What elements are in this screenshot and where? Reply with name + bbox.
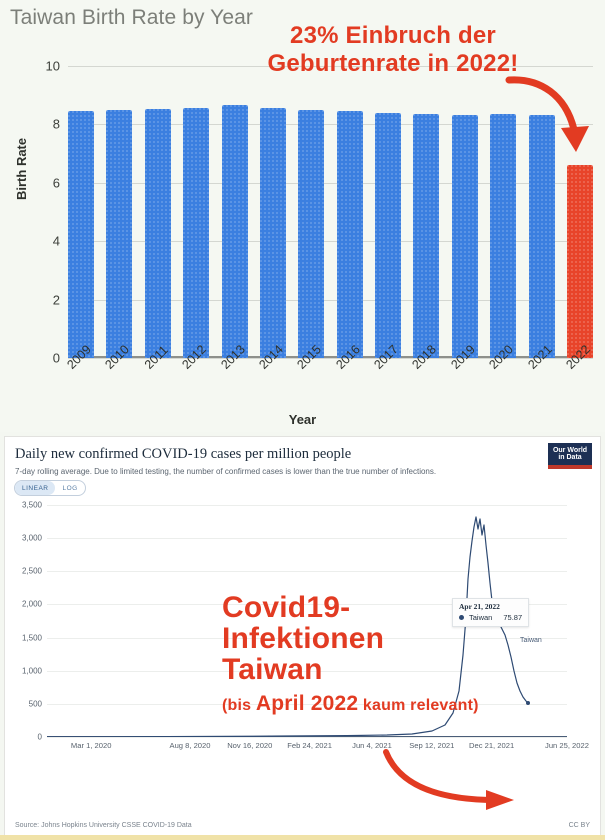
bar-chart-x-tick: 2011 (145, 362, 171, 404)
covid-series-label: Taiwan (520, 637, 542, 644)
covid-y-tick-label: 3,000 (22, 534, 42, 543)
bar-chart-y-axis-label: Birth Rate (14, 138, 29, 200)
bar[interactable] (298, 110, 324, 358)
bar[interactable] (567, 165, 593, 358)
bar-chart-x-tick: 2017 (375, 362, 401, 404)
scale-log-button[interactable]: LOG (55, 481, 84, 495)
covid-x-tick-label: Nov 16, 2020 (227, 741, 272, 750)
bar-chart-x-tick: 2019 (452, 362, 478, 404)
covid-annotation-line-3: Taiwan (222, 655, 479, 686)
covid-y-tick-label: 0 (38, 733, 42, 742)
bar[interactable] (337, 111, 363, 358)
bar-chart-x-tick: 2012 (183, 362, 209, 404)
covid-x-tick-label: Feb 24, 2021 (287, 741, 332, 750)
scale-linear-button[interactable]: LINEAR (15, 481, 55, 495)
covid-annotation: Covid19- Infektionen Taiwan (bis April 2… (222, 593, 479, 717)
covid-x-tick-label: Mar 1, 2020 (71, 741, 112, 750)
bar-chart-y-tick: 0 (53, 351, 60, 366)
covid-x-tick-label: Aug 8, 2020 (170, 741, 211, 750)
bar-chart-plot-area: 0246810 (68, 66, 593, 358)
bottom-accent-bar (0, 835, 605, 840)
covid-chart-subtitle: 7-day rolling average. Due to limited te… (15, 467, 535, 477)
bar-chart-x-tick: 2022 (567, 362, 593, 404)
covid-x-tick-label: Sep 12, 2021 (409, 741, 454, 750)
bar-chart-x-tick: 2009 (68, 362, 94, 404)
our-world-in-data-logo[interactable]: Our World in Data (548, 443, 592, 469)
gridline (47, 737, 567, 738)
bar-chart-y-tick: 6 (53, 175, 60, 190)
bar-chart-x-tick-labels: 2009201020112012201320142015201620172018… (68, 362, 593, 404)
bar-chart-y-tick: 4 (53, 234, 60, 249)
covid-y-tick-label: 1,000 (22, 666, 42, 675)
scale-toggle[interactable]: LINEAR LOG (14, 480, 86, 496)
bar[interactable] (375, 113, 401, 358)
bar-chart-title: Taiwan Birth Rate by Year (10, 6, 253, 30)
covid-annotation-line-4-prefix: (bis (222, 697, 256, 714)
bar-chart-y-tick: 10 (46, 59, 60, 74)
bar[interactable] (106, 110, 132, 358)
screenshot-page: Taiwan Birth Rate by Year Birth Rate 024… (0, 0, 605, 840)
covid-y-tick-label: 2,500 (22, 567, 42, 576)
logo-line-1: Our World (548, 447, 592, 454)
covid-x-tick-labels: Mar 1, 2020Aug 8, 2020Nov 16, 2020Feb 24… (47, 741, 567, 755)
birth-rate-annotation: 23% Einbruch der Geburtenrate in 2022! (228, 22, 558, 77)
covid-y-tick-label: 1,500 (22, 633, 42, 642)
bar-chart-x-tick: 2016 (337, 362, 363, 404)
covid-annotation-line-2: Infektionen (222, 624, 479, 655)
covid-chart-title: Daily new confirmed COVID-19 cases per m… (15, 446, 351, 463)
bar-chart-y-tick: 8 (53, 117, 60, 132)
covid-annotation-line-4: (bis April 2022 kaum relevant) (222, 686, 479, 717)
bar-chart-x-tick: 2018 (413, 362, 439, 404)
logo-line-2: in Data (548, 454, 592, 461)
covid-annotation-line-4-suffix: kaum relevant) (358, 697, 478, 714)
covid-annotation-line-1: Covid19- (222, 593, 479, 624)
bar[interactable] (529, 115, 555, 358)
covid-y-tick-label: 3,500 (22, 501, 42, 510)
covid-y-tick-label: 500 (29, 699, 42, 708)
bar-chart-y-tick: 2 (53, 292, 60, 307)
birth-rate-chart-panel: Taiwan Birth Rate by Year Birth Rate 024… (0, 0, 605, 432)
bar-chart-x-tick: 2010 (106, 362, 132, 404)
bar-series (68, 66, 593, 358)
annotation-line-1: 23% Einbruch der (228, 22, 558, 50)
bar[interactable] (452, 115, 478, 358)
bar-chart-x-axis-label: Year (0, 412, 605, 427)
bar[interactable] (145, 109, 171, 358)
covid-annotation-line-4-date: April 2022 (256, 692, 358, 715)
bar-chart-x-tick: 2020 (490, 362, 516, 404)
bar[interactable] (490, 114, 516, 358)
bar-chart-x-tick: 2014 (260, 362, 286, 404)
bar[interactable] (68, 111, 94, 358)
bar[interactable] (222, 105, 248, 358)
bar[interactable] (413, 114, 439, 358)
bar-chart-x-tick: 2015 (298, 362, 324, 404)
covid-x-tick-label: Dec 21, 2021 (469, 741, 514, 750)
bar-chart-x-tick: 2013 (222, 362, 248, 404)
covid-license-text[interactable]: CC BY (569, 822, 590, 829)
bar[interactable] (183, 108, 209, 358)
covid-x-tick-label: Jun 4, 2021 (352, 741, 392, 750)
tooltip-series-value: 75.87 (503, 613, 522, 622)
annotation-line-2: Geburtenrate in 2022! (228, 50, 558, 78)
covid-source-text: Source: Johns Hopkins University CSSE CO… (15, 822, 192, 829)
covid-x-tick-label: Jun 25, 2022 (545, 741, 589, 750)
covid-y-tick-label: 2,000 (22, 600, 42, 609)
covid-series-endpoint (526, 701, 530, 705)
bar[interactable] (260, 108, 286, 358)
bar-chart-x-tick: 2021 (529, 362, 555, 404)
